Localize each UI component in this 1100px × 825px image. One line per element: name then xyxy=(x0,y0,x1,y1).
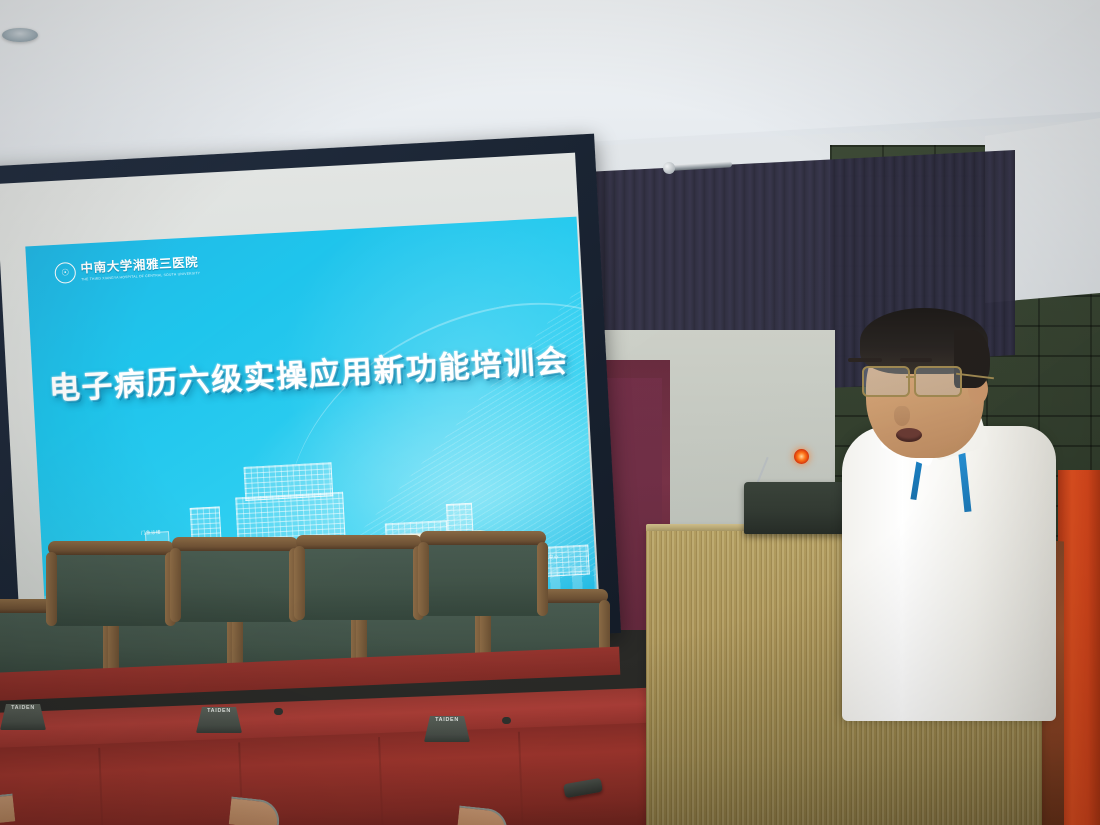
podium-microphone-led-icon xyxy=(794,449,809,464)
speaker-sleeve xyxy=(976,450,1072,700)
chair xyxy=(176,544,294,622)
chair xyxy=(424,538,542,616)
table-microphone: TAIDEN xyxy=(424,712,470,742)
microphone-brand-label: TAIDEN xyxy=(201,708,237,714)
microphone-brand-label: TAIDEN xyxy=(5,705,41,711)
conference-room-photo: ☉ 中南大学湘雅三医院 THE THIRD XIANGYA HOSPITAL O… xyxy=(0,0,1100,825)
skyline-tower-top xyxy=(244,462,334,501)
table-microphone: TAIDEN xyxy=(196,703,242,733)
eyeglasses-icon xyxy=(862,366,982,396)
speaker-nose xyxy=(894,406,910,426)
chair xyxy=(300,542,418,620)
microphone-brand-label: TAIDEN xyxy=(429,717,465,723)
speaker-person xyxy=(836,300,1066,720)
chair xyxy=(52,548,170,626)
hospital-emblem-icon: ☉ xyxy=(54,262,76,284)
table-microphone: TAIDEN xyxy=(0,700,46,730)
ceiling-light-icon xyxy=(2,28,38,42)
skyline-label-gate: 门急诊楼 xyxy=(141,530,161,537)
slide-hospital-logo: ☉ 中南大学湘雅三医院 THE THIRD XIANGYA HOSPITAL O… xyxy=(54,255,200,284)
speaker-eyebrow xyxy=(900,358,932,362)
speaker-eyebrow xyxy=(848,358,882,362)
speaker-mouth xyxy=(896,428,922,442)
